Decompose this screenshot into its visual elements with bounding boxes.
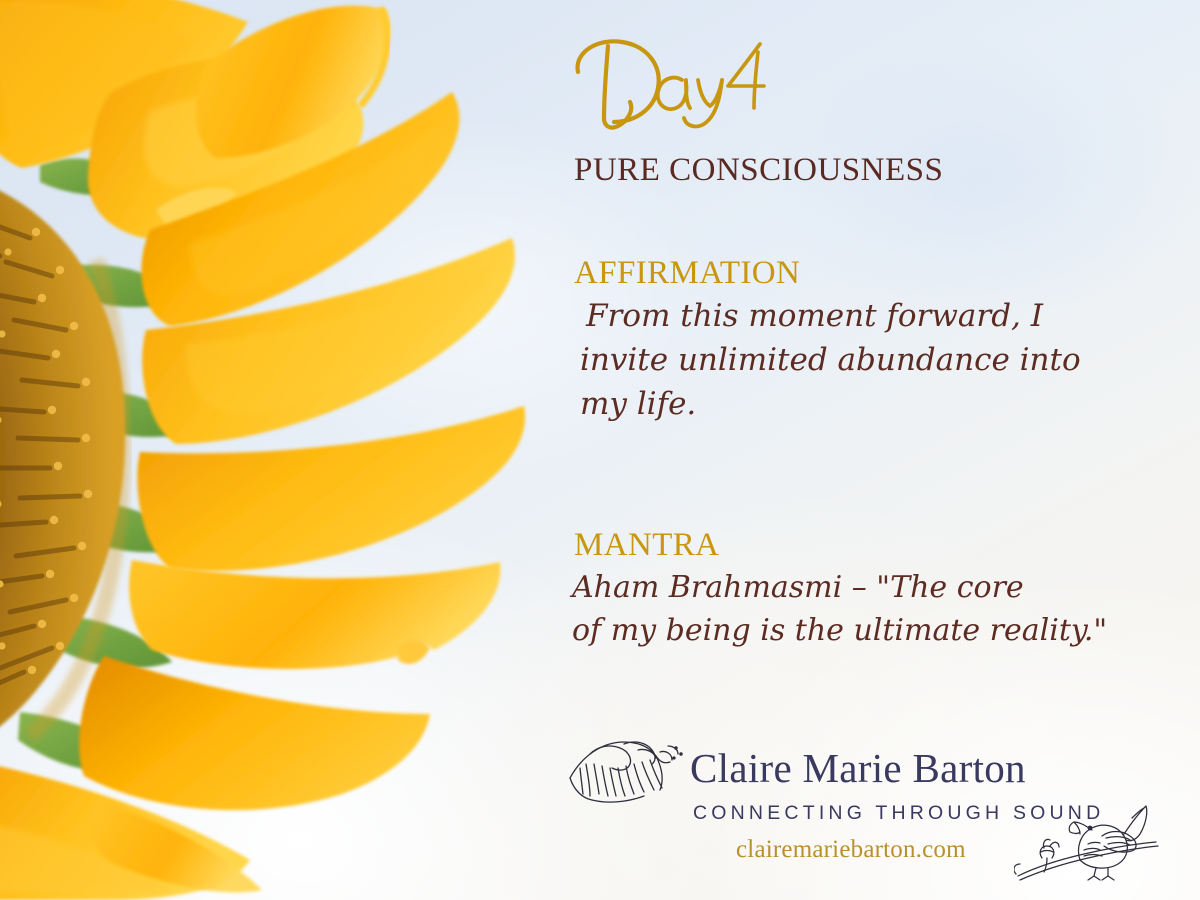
mantra-heading: MANTRA (574, 528, 1192, 564)
day-label: Day 4 (564, 36, 794, 132)
brand-logo: Claire Marie Barton CONNECTING THROUGH S… (562, 728, 1162, 878)
bird-on-branch-icon (1014, 788, 1162, 884)
sunflower-icon (0, 0, 620, 900)
affirmation-line-1: From this moment forward, I (572, 294, 1192, 338)
affirmation-heading: AFFIRMATION (574, 256, 1192, 292)
content-column: Day 4 PURE CONSCIOUSNESS AFFIRMATION Fro… (556, 0, 1200, 900)
mantra-body: Aham Brahmasmi – "The core of my being i… (572, 566, 1192, 653)
mantra-line-2: of my being is the ultimate reality." (572, 609, 1192, 653)
affirmation-line-2: invite unlimited abundance into (572, 338, 1192, 382)
affirmation-section: AFFIRMATION From this moment forward, I … (572, 256, 1192, 426)
mantra-line-1: Aham Brahmasmi – "The core (572, 566, 1192, 610)
affirmation-body: From this moment forward, I invite unlim… (572, 294, 1192, 426)
brand-website-url[interactable]: clairemariebarton.com (736, 836, 966, 864)
affirmation-line-3: my life. (572, 382, 1192, 426)
brand-name: Claire Marie Barton (690, 744, 1026, 792)
ocean-wave-icon (568, 734, 690, 804)
page-title: PURE CONSCIOUSNESS (574, 152, 943, 189)
social-media-card: Day 4 PURE CONSCIOUSNESS AFFIRMATION Fro… (0, 0, 1200, 900)
mantra-section: MANTRA Aham Brahmasmi – "The core of my … (572, 528, 1192, 653)
